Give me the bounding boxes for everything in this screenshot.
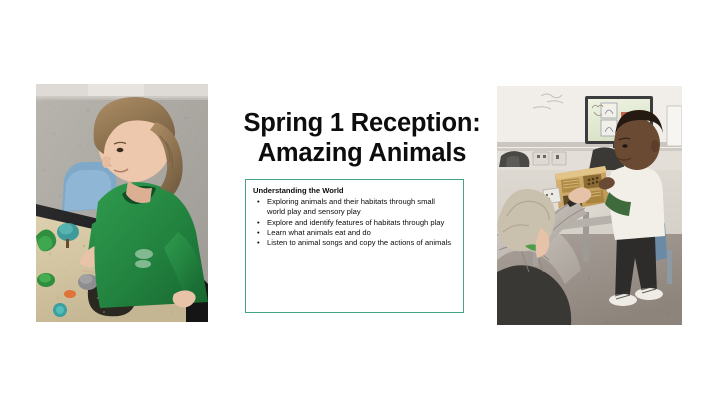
toy-flower [53, 303, 67, 317]
list-item: • Exploring animals and their habitats t… [253, 197, 455, 218]
photo-teacher-child-bug-hotel [497, 86, 682, 325]
textbox-heading: Understanding the World [253, 186, 455, 196]
child-eye [117, 148, 124, 152]
photo-teacher-child-bug-hotel-graphic [497, 86, 682, 325]
list-item: • Explore and identify features of habit… [253, 218, 455, 228]
photo-child-sand-tray [36, 84, 208, 322]
slide-canvas: Spring 1 Reception: Amazing Animals Unde… [0, 0, 720, 405]
list-item: • Learn what animals eat and do [253, 228, 455, 238]
list-item-text: Exploring animals and their habitats thr… [267, 197, 435, 216]
list-item-text: Learn what animals eat and do [267, 228, 371, 237]
understanding-the-world-textbox: Understanding the World • Exploring anim… [245, 179, 464, 313]
toy-animal-small [64, 290, 76, 298]
bullet-icon: • [257, 197, 260, 207]
list-item-text: Explore and identify features of habitat… [267, 218, 444, 227]
page-title: Spring 1 Reception: Amazing Animals [216, 108, 508, 168]
bullet-icon: • [257, 218, 260, 228]
bullet-icon: • [257, 228, 260, 238]
bullet-icon: • [257, 238, 260, 248]
toy-plant [37, 273, 55, 287]
textbox-bullet-list: • Exploring animals and their habitats t… [253, 197, 455, 248]
list-item: • Listen to animal songs and copy the ac… [253, 238, 455, 248]
page-title-line-1: Spring 1 Reception: [216, 108, 508, 138]
page-title-line-2: Amazing Animals [216, 138, 508, 168]
list-item-text: Listen to animal songs and copy the acti… [267, 238, 451, 247]
photo-child-sand-tray-graphic [36, 84, 208, 322]
